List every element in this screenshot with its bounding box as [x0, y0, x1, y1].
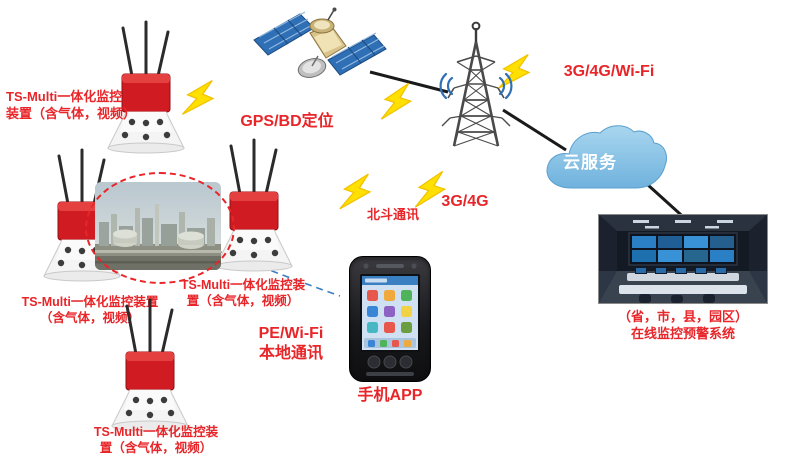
satellite-icon	[248, 6, 388, 102]
label-phone-app: 手机APP	[347, 386, 433, 406]
label-control-center: （省，市，县，园区） 在线监控预警系统	[596, 308, 770, 342]
label-device-bottom: TS-Multi一体化监控装 置（含气体，视频）	[66, 424, 246, 456]
smartphone-icon	[349, 256, 431, 382]
monitoring-device-icon	[96, 300, 206, 430]
label-gps-positioning: GPS/BD定位	[222, 112, 352, 132]
label-3g4g-wifi: 3G/4G/Wi-Fi	[542, 62, 676, 82]
label-device-top-left: TS-Multi一体化监控 装置（含气体，视频）	[6, 88, 146, 122]
plant-highlight-circle	[85, 172, 235, 284]
label-beidou: 北斗通讯	[348, 206, 438, 223]
label-3g4g: 3G/4G	[428, 192, 502, 212]
network-topology-diagram: 云服务 TS-Multi一体化监控 装置（含气体，视频）	[0, 0, 797, 464]
control-room-photo	[598, 214, 768, 304]
cloud-label: 云服务	[563, 148, 617, 173]
monitoring-device-icon	[92, 22, 202, 152]
cell-tower-icon	[424, 22, 534, 154]
label-pe-wifi: PE/Wi-Fi 本地通讯	[236, 324, 346, 364]
